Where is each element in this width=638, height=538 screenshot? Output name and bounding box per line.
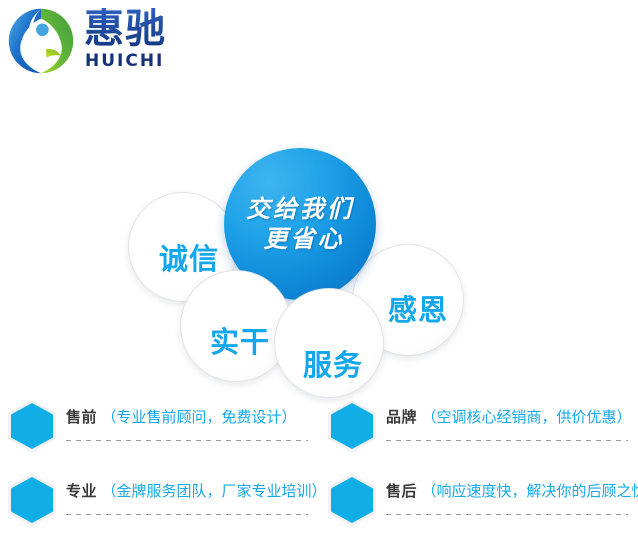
feature-item-shouqian: 售前 （专业售前顾问，免费设计） (4, 394, 309, 464)
core-slogan-line-2: 更省心 (264, 224, 345, 254)
feature-desc: （专业售前顾问，免费设计） (101, 408, 296, 426)
feature-desc: （金牌服务团队，厂家专业培训） (101, 482, 326, 500)
feature-item-shouhou: 售后 （响应速度快，解决你的后顾之忧） (324, 468, 629, 538)
feature-divider (386, 440, 628, 441)
feature-text-block: 品牌 （空调核心经销商，供价优惠） (386, 404, 628, 456)
brand-name-en: HUICHI (85, 51, 164, 71)
huichi-swirl-logo-icon (6, 6, 76, 76)
value-label-shigan: 实干 (210, 319, 270, 361)
value-label-chengxin: 诚信 (159, 236, 219, 278)
value-circle-fuwu: 服务 (274, 288, 384, 398)
value-label-fuwu: 服务 (303, 342, 363, 384)
feature-label: 专业 (66, 482, 97, 500)
feature-text-block: 售前 （专业售前顾问，免费设计） (66, 404, 308, 456)
feature-divider (386, 514, 628, 515)
feature-divider (66, 514, 308, 515)
feature-label: 品牌 (386, 408, 417, 426)
feature-text-block: 专业 （金牌服务团队，厂家专业培训） (66, 478, 308, 530)
brand-logo-block: 惠驰 HUICHI (0, 0, 210, 82)
service-feature-grid: 售前 （专业售前顾问，免费设计） 品牌 （空调核心经销商，供价优惠） 专业 （金… (0, 394, 638, 538)
brand-wordmark: 惠驰 HUICHI (84, 8, 204, 70)
hexagon-icon (8, 474, 56, 526)
feature-label: 售前 (66, 408, 97, 426)
feature-item-zhuanye: 专业 （金牌服务团队，厂家专业培训） (4, 468, 309, 538)
value-circle-shigan: 实干 (180, 270, 292, 382)
feature-item-pinpai: 品牌 （空调核心经销商，供价优惠） (324, 394, 629, 464)
hexagon-icon (8, 400, 56, 452)
brand-name-cn: 惠驰 (84, 8, 166, 50)
hexagon-icon (328, 474, 376, 526)
core-slogan-line-1: 交给我们 (246, 194, 354, 224)
feature-desc: （空调核心经销商，供价优惠） (421, 408, 631, 426)
values-circle-cluster: 诚信 感恩 交给我们 更省心 实干 服务 (0, 130, 638, 398)
feature-desc: （响应速度快，解决你的后顾之忧） (421, 482, 638, 500)
hexagon-icon (328, 400, 376, 452)
feature-label: 售后 (386, 482, 417, 500)
feature-divider (66, 440, 308, 441)
value-label-ganen: 感恩 (388, 287, 448, 329)
feature-text-block: 售后 （响应速度快，解决你的后顾之忧） (386, 478, 628, 530)
